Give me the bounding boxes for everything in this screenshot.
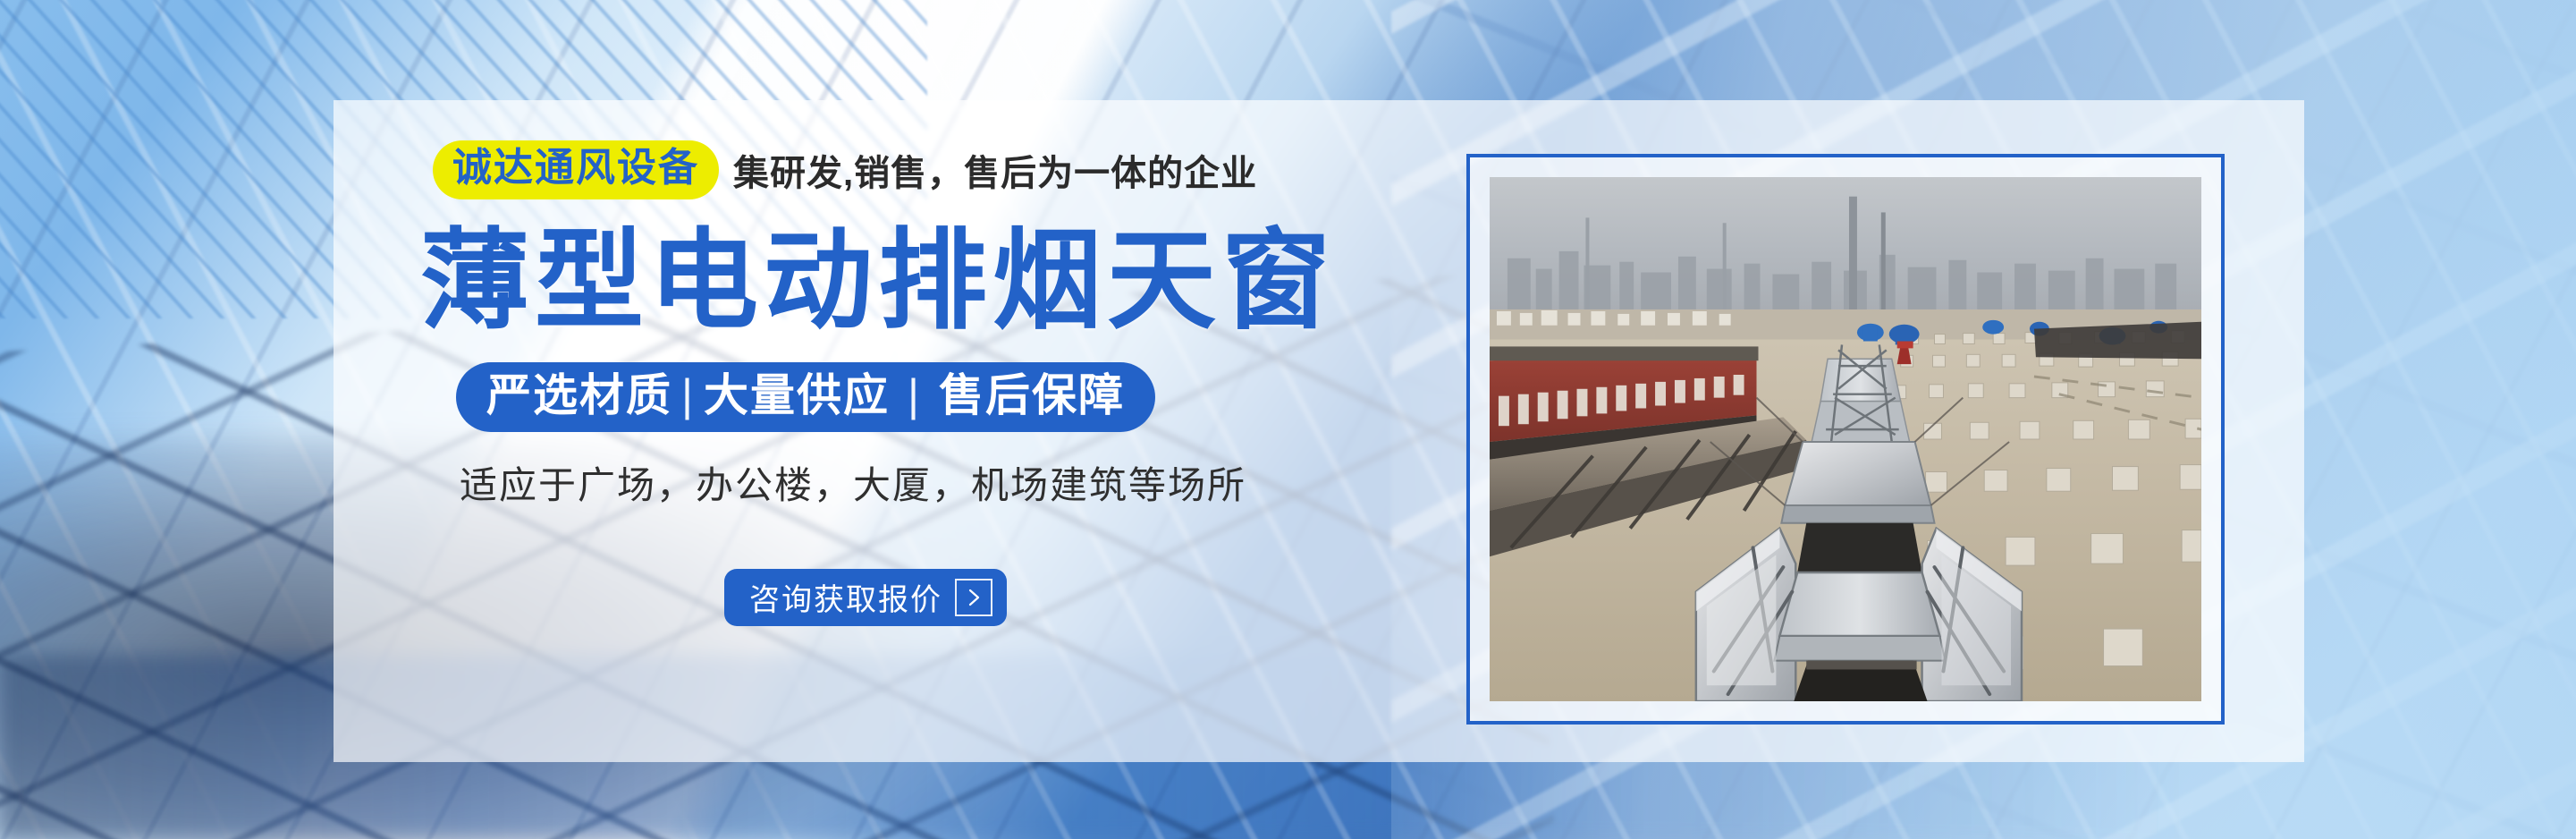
cta-container: 咨询获取报价: [724, 569, 1413, 626]
request-quote-button[interactable]: 咨询获取报价: [724, 569, 1007, 626]
chevron-right-icon: [955, 579, 992, 616]
tagline-row: 诚达通风设备 集研发,销售，售后为一体的企业: [433, 134, 1413, 206]
banner-text-column: 诚达通风设备 集研发,销售，售后为一体的企业 薄型电动排烟天窗 严选材质 | 大…: [420, 134, 1413, 733]
feature-separator-1: |: [672, 373, 704, 418]
sub-description: 适应于广场，办公楼，大厦，机场建筑等场所: [460, 455, 1413, 510]
brand-name-badge: 诚达通风设备: [433, 140, 719, 199]
feature-highlights-pill: 严选材质 | 大量供应 | 售后保障: [456, 362, 1155, 432]
product-photo: [1490, 177, 2201, 701]
feature-item-2: 大量供应: [704, 373, 890, 418]
request-quote-label: 咨询获取报价: [749, 575, 942, 619]
feature-separator-2: |: [890, 373, 939, 418]
feature-item-1: 严选材质: [486, 373, 672, 418]
feature-item-3: 售后保障: [939, 373, 1125, 418]
promo-banner: 诚达通风设备 集研发,销售，售后为一体的企业 薄型电动排烟天窗 严选材质 | 大…: [0, 0, 2576, 839]
tagline-text: 集研发,销售，售后为一体的企业: [733, 144, 1257, 196]
page-title: 薄型电动排烟天窗: [420, 220, 1413, 343]
product-photo-frame: [1466, 154, 2225, 725]
